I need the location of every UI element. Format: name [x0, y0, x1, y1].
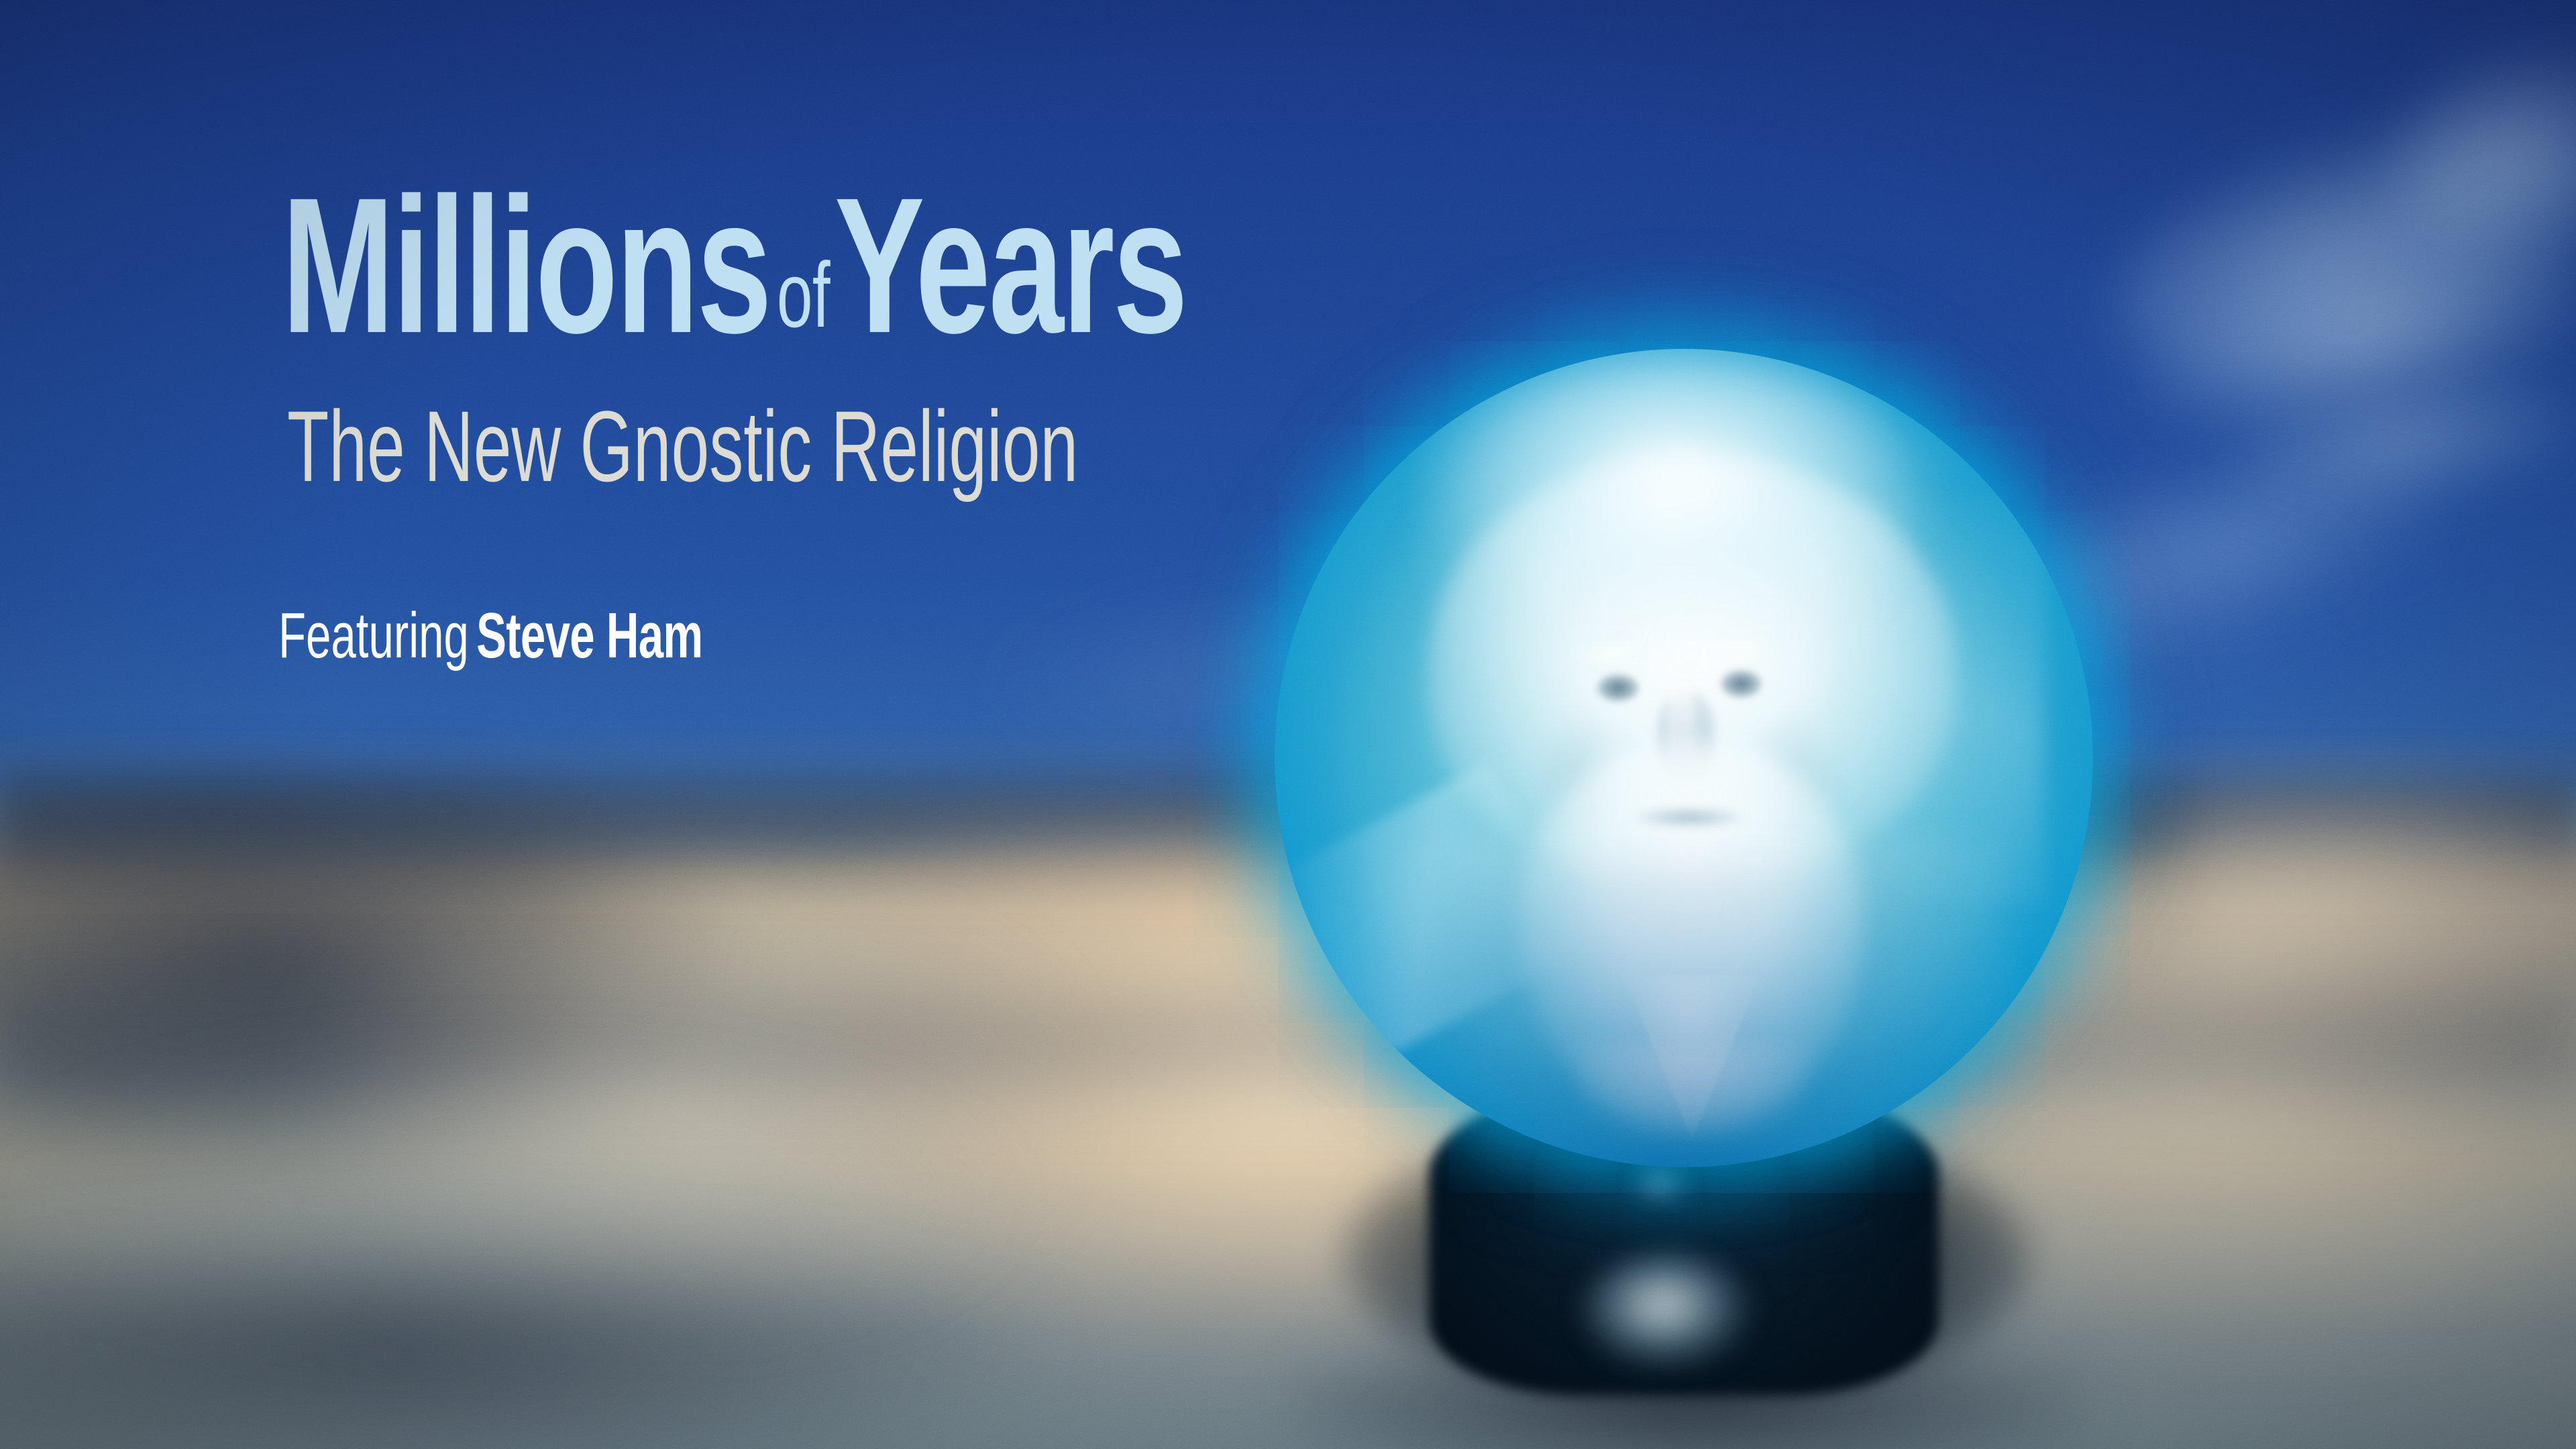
poster-canvas: MillionsofYears The New Gnostic Religion… — [0, 0, 2576, 1449]
poster-text-block: MillionsofYears The New Gnostic Religion… — [0, 0, 2576, 1449]
featuring-speaker-name: Steve Ham — [469, 600, 703, 672]
poster-title: MillionsofYears — [282, 169, 1186, 362]
poster-featuring-line: FeaturingSteve Ham — [278, 604, 702, 668]
title-word-years: Years — [835, 158, 1186, 374]
featuring-label: Featuring — [278, 600, 469, 672]
title-word-millions: Millions — [282, 158, 770, 374]
title-word-of: of — [770, 244, 835, 347]
poster-subtitle: The New Gnostic Religion — [287, 396, 1078, 496]
